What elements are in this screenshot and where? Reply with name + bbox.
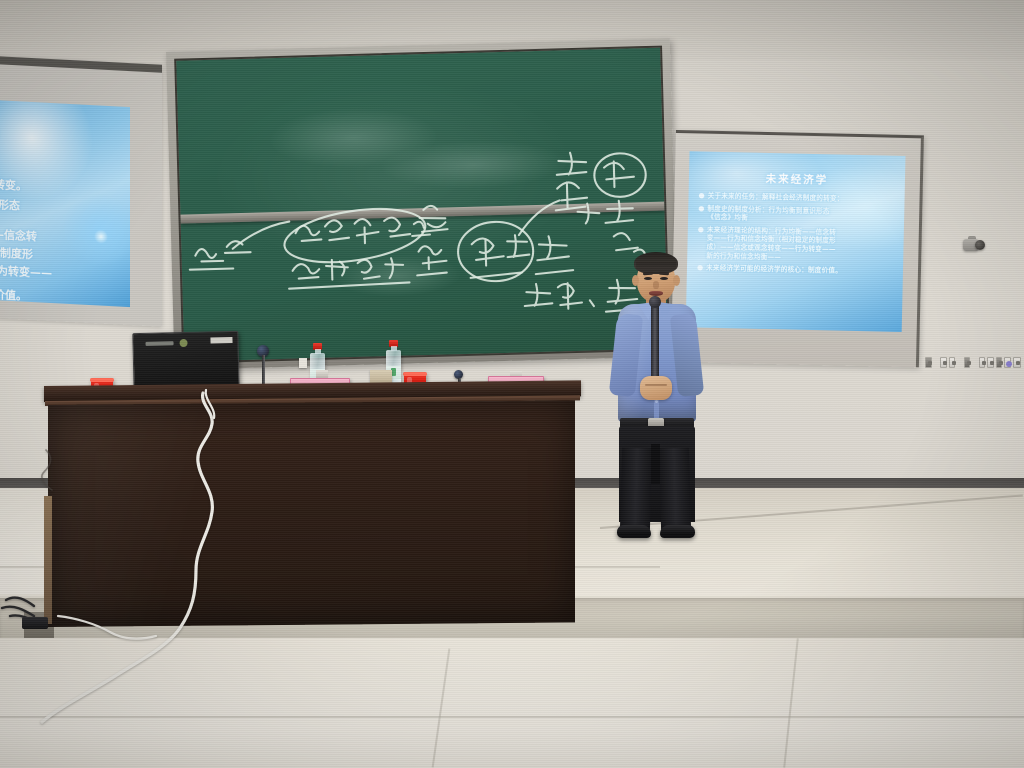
outlet[interactable] xyxy=(979,357,986,368)
floor-tile-line xyxy=(0,716,1024,718)
podium-side-strip xyxy=(44,496,52,624)
presenter-clasped-hands xyxy=(640,376,672,400)
outlet[interactable] xyxy=(964,357,971,368)
chalkboard-frame xyxy=(166,38,678,370)
left-slide-line-3: 衡到意识形态 xyxy=(0,194,20,213)
handheld-microphone xyxy=(651,300,659,382)
presenter-trouser-center xyxy=(651,444,660,484)
laptop-logo xyxy=(146,341,174,346)
left-slide-line-2: 济制度的转变。 xyxy=(0,174,27,194)
bullet-dot-icon: ● xyxy=(698,204,704,221)
left-screen-projection: 学 济制度的转变。 衡到意识形态 均衡——信念转 对稳定的制度形 ——行为转变—… xyxy=(0,100,130,307)
chalkboard-surface xyxy=(174,46,670,364)
microphone-head-icon xyxy=(649,296,661,308)
outlet[interactable] xyxy=(987,357,994,368)
right-screen-projection: 未来经济学 ● 关于未来的任务：解释社会经济制度的转变： ● 制度史的制度分析：… xyxy=(686,151,906,332)
presenter-leg-left xyxy=(620,448,652,535)
lecture-hall-photo: 学 济制度的转变。 衡到意识形态 均衡——信念转 对稳定的制度形 ——行为转变—… xyxy=(0,0,1024,768)
slide-bullet: ● 关于未来的任务：解释社会经济制度的转变： xyxy=(698,192,896,205)
outlet[interactable] xyxy=(949,357,956,368)
power-outlet-row[interactable] xyxy=(925,356,1021,369)
floor-tile-line xyxy=(783,638,799,767)
left-projection-screen: 学 济制度的转变。 衡到意识形态 均衡——信念转 对稳定的制度形 ——行为转变—… xyxy=(0,56,162,327)
left-slide-line-5: 对稳定的制度形 xyxy=(0,242,33,262)
slide-bullet-list: ● 关于未来的任务：解释社会经济制度的转变： ● 制度史的制度分析：行为均衡到意… xyxy=(697,192,897,281)
outlet[interactable] xyxy=(1013,357,1021,368)
right-screen-board: 未来经济学 ● 关于未来的任务：解释社会经济制度的转变： ● 制度史的制度分析：… xyxy=(671,130,924,367)
outlet-indicator[interactable] xyxy=(1004,357,1011,368)
presenter-leg-right xyxy=(659,448,691,535)
microphone-arm xyxy=(262,355,265,387)
slide-title: 未来经济学 xyxy=(766,171,829,187)
chalkboard-assembly xyxy=(166,38,678,370)
presenter-ear-left xyxy=(632,275,639,286)
small-item-on-desk xyxy=(299,358,307,368)
left-slide-line-4: 均衡——信念转 xyxy=(0,224,37,244)
power-plug[interactable] xyxy=(22,617,48,629)
laptop-label xyxy=(210,337,232,343)
outlet[interactable] xyxy=(940,357,947,368)
camera-lens xyxy=(975,240,985,250)
bullet-dot-icon: ● xyxy=(698,192,704,201)
tiled-floor xyxy=(0,638,1024,768)
chalk-handwriting xyxy=(176,48,668,362)
left-screen-hotspot xyxy=(94,229,108,244)
presenter-shoe-left xyxy=(617,525,651,538)
bullet-line: 关于未来的任务：解释社会经济制度的转变： xyxy=(708,192,897,205)
outlet[interactable] xyxy=(925,357,932,368)
slide-bullet: ● 制度史的制度分析：行为均衡到意识形态 《信念》均衡 xyxy=(698,204,896,226)
presenter-hair xyxy=(634,252,678,274)
presenter-shoe-right xyxy=(660,525,695,538)
left-slide-line-6: ——行为转变—— xyxy=(0,260,52,281)
laptop-indicator-icon xyxy=(179,339,187,347)
presenter xyxy=(604,252,708,540)
floor-tile-line xyxy=(432,648,451,767)
bullet-line: 未来经济学可能的经济学的核心：制度价值。 xyxy=(706,264,895,277)
slide-bullet: ● 未来经济理论的结构：行为均衡——信念转 变——行为和信念均衡（相对稳定的制度… xyxy=(697,225,896,264)
presenter-ear-right xyxy=(673,275,680,286)
outlet[interactable] xyxy=(996,357,1003,368)
security-camera-icon xyxy=(963,236,985,253)
presenter-nose xyxy=(653,281,659,289)
right-projection-screen: 未来经济学 ● 关于未来的任务：解释社会经济制度的转变： ● 制度史的制度分析：… xyxy=(671,130,924,367)
podium-table xyxy=(44,386,581,632)
left-slide-line-7: 归：制度价值。 xyxy=(0,284,27,304)
podium-front-panel xyxy=(48,400,575,627)
slide-bullet: ● 未来经济学可能的经济学的核心：制度价值。 xyxy=(697,264,895,277)
